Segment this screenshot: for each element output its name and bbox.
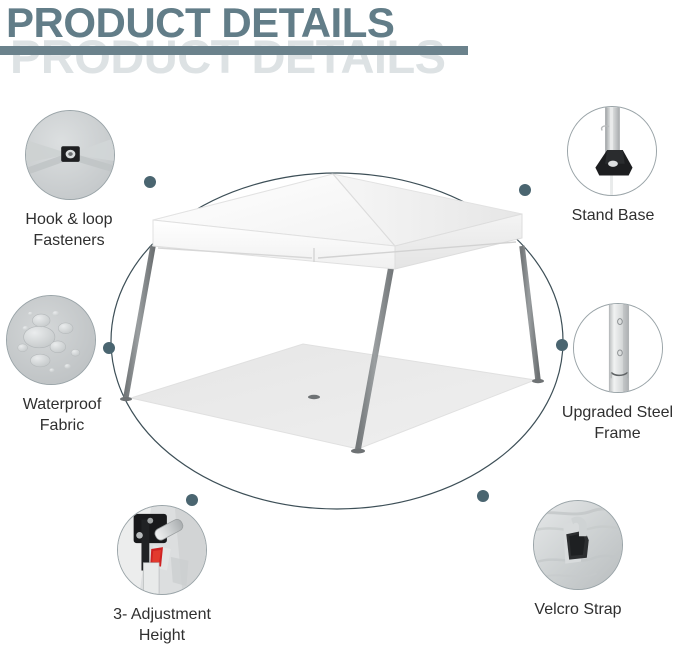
callout-label-stand-base: Stand Base [548,205,678,226]
canopy-product-illustration [118,152,568,482]
page-title: PRODUCT DETAILS [6,2,394,44]
callout-stand-base[interactable]: Stand Base [548,106,678,226]
canopy-leg-left [126,246,153,397]
stand-base-photo [567,106,657,196]
title-divider-rule [0,46,468,55]
callout-label-velcro: Velcro Strap [493,599,663,620]
callout-hook-loop[interactable]: Hook & loop Fasteners [0,110,140,251]
callout-label-hook-loop: Hook & loop Fasteners [0,209,140,251]
height-adjustment-photo [117,505,207,595]
callout-waterproof-fabric[interactable]: Waterproof Fabric [0,295,124,436]
upgraded-steel-frame-photo [573,303,663,393]
connector-dot-velcro [477,490,489,502]
hook-loop-fasteners-photo [25,110,115,200]
callout-label-waterproof: Waterproof Fabric [0,394,124,436]
callout-label-adjustment: 3- Adjustment Height [62,604,262,646]
infographic-page: PRODUCT DETAILS PRODUCT DETAILS [0,0,679,649]
callout-velcro-strap[interactable]: Velcro Strap [493,500,663,620]
callout-label-steel-frame: Upgraded Steel Frame [556,402,679,444]
callout-adjustment-height[interactable]: 3- Adjustment Height [62,505,262,646]
velcro-strap-photo [533,500,623,590]
waterproof-fabric-photo [6,295,96,385]
header: PRODUCT DETAILS PRODUCT DETAILS [0,0,679,96]
canopy-leg-right [522,246,538,380]
callout-steel-frame[interactable]: Upgraded Steel Frame [556,303,679,444]
canopy-ground-shadow [131,344,535,449]
